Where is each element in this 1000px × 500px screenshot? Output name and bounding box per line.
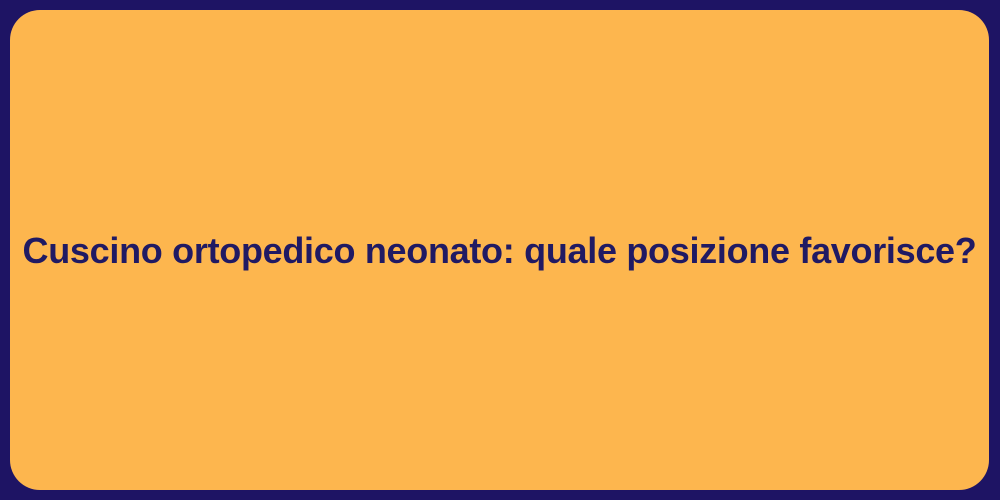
card-panel: Cuscino ortopedico neonato: quale posizi… bbox=[10, 10, 989, 490]
page-title: Cuscino ortopedico neonato: quale posizi… bbox=[10, 228, 989, 273]
card-frame: Cuscino ortopedico neonato: quale posizi… bbox=[0, 0, 1000, 500]
